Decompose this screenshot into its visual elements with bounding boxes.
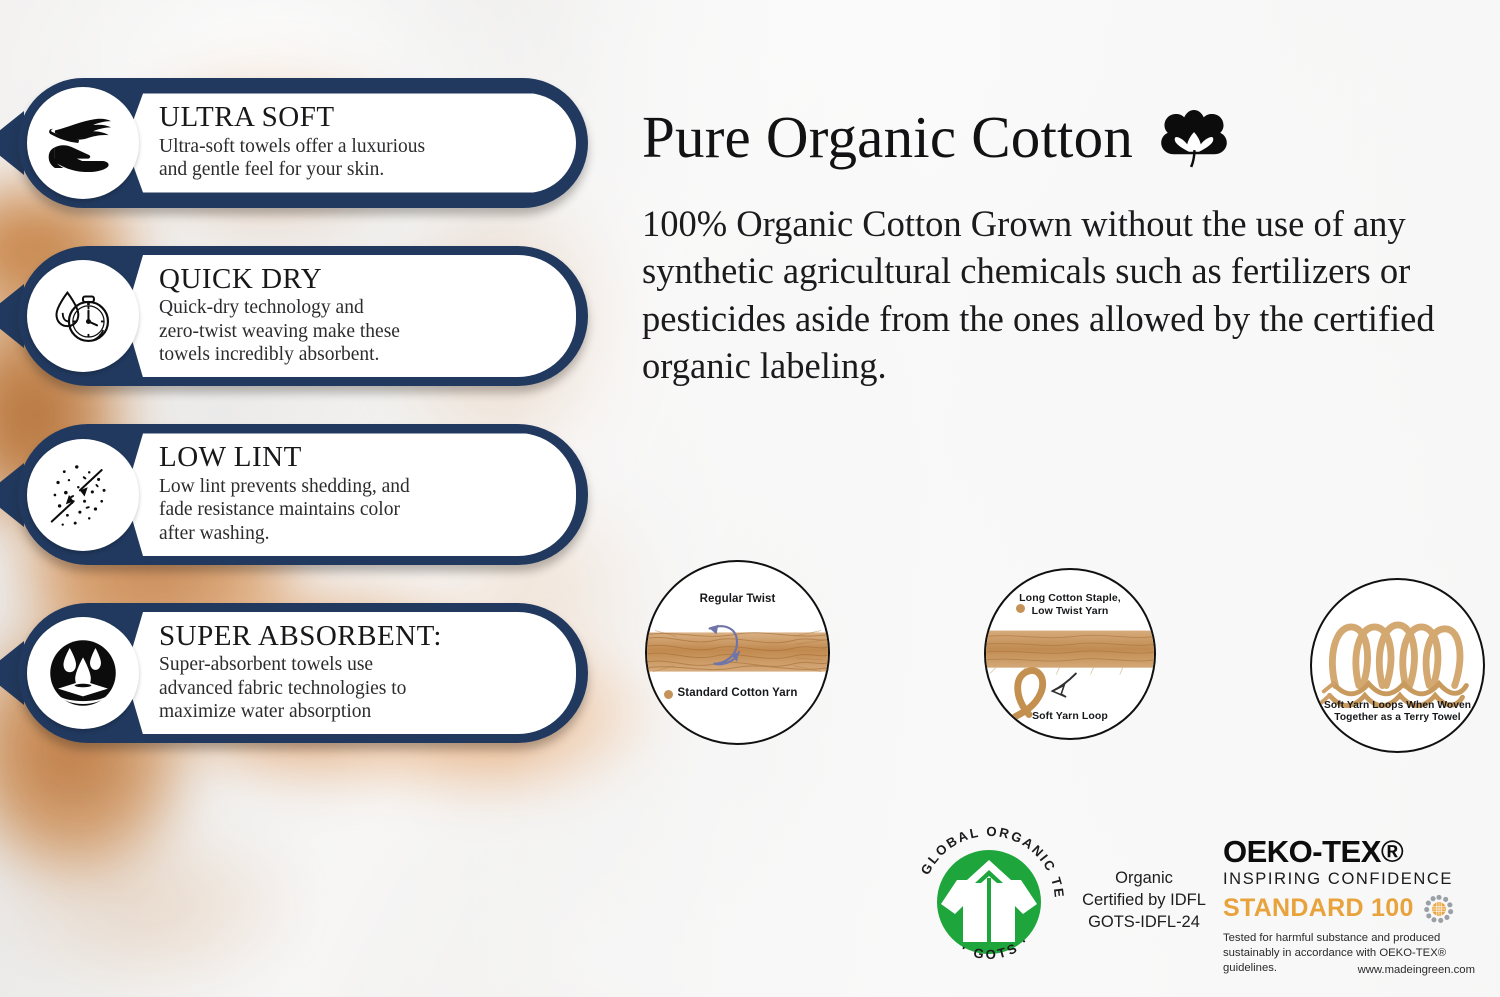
feature-list: ULTRA SOFT Ultra-soft towels offer a lux… (18, 78, 588, 781)
yarn-top-label: Long Cotton Staple, Low Twist Yarn (986, 592, 1154, 618)
yarn-bottom-label: Soft Yarn Loop (986, 710, 1154, 723)
feature-item-ultra-soft[interactable]: ULTRA SOFT Ultra-soft towels offer a lux… (18, 78, 588, 208)
oeko-tex-title: OEKO-TEX® (1223, 836, 1475, 867)
oeko-tex-flower-icon (1424, 894, 1454, 924)
oeko-tex-standard: STANDARD 100 (1223, 896, 1414, 921)
yarn-bottom-label: Soft Yarn Loops When Woven Together as a… (1312, 700, 1483, 725)
feature-description: Quick-dry technology and zero-twist weav… (159, 296, 550, 366)
oeko-tex-subtitle: INSPIRING CONFIDENCE (1223, 871, 1475, 888)
certifications-row: GLOBAL ORGANIC TEXTILE STANDARD · GOTS ·… (905, 818, 1485, 986)
yarn-diagram-row: Regular Twist Standard Cotton Yarn (645, 560, 1485, 753)
feature-item-low-lint[interactable]: LOW LINT Low lint prevents shedding, and… (18, 424, 588, 564)
right-column: Pure Organic Cotton 100% Organic Cotton … (642, 96, 1480, 390)
water-absorption-icon (27, 617, 139, 729)
yarn-diagram-terry-loops: Soft Yarn Loops When Woven Together as a… (1310, 578, 1485, 753)
yarn-top-label: Regular Twist (647, 592, 828, 606)
lint-particles-icon (27, 439, 139, 551)
gots-certification-text: Organic Certified by IDFL GOTS-IDFL-24 (1073, 868, 1215, 934)
oeko-tex-block: OEKO-TEX® INSPIRING CONFIDENCE STANDARD … (1223, 836, 1475, 978)
feature-item-quick-dry[interactable]: QUICK DRY Quick-dry technology and zero-… (18, 246, 588, 386)
yarn-diagram-low-twist: Long Cotton Staple, Low Twist Yarn Soft … (984, 568, 1156, 740)
oeko-tex-fine-print: Tested for harmful substance and produce… (1223, 931, 1475, 978)
page-title: Pure Organic Cotton (642, 103, 1133, 172)
yarn-bottom-label: Standard Cotton Yarn (647, 686, 828, 700)
infographic-canvas: ULTRA SOFT Ultra-soft towels offer a lux… (0, 0, 1500, 997)
feature-description: Super-absorbent towels use advanced fabr… (159, 653, 550, 723)
hand-feather-icon (27, 87, 139, 199)
yarn-diagram-regular-twist: Regular Twist Standard Cotton Yarn (645, 560, 830, 745)
feature-description: Ultra-soft towels offer a luxurious and … (159, 135, 550, 182)
feature-title: LOW LINT (159, 442, 550, 473)
body-paragraph: 100% Organic Cotton Grown without the us… (642, 200, 1480, 390)
headline-row: Pure Organic Cotton (642, 96, 1480, 178)
feature-description: Low lint prevents shedding, and fade res… (159, 475, 550, 545)
feature-title: ULTRA SOFT (159, 102, 550, 133)
cotton-boll-icon (1153, 96, 1235, 178)
gots-logo-icon: GLOBAL ORGANIC TEXTILE STANDARD · GOTS · (905, 818, 1073, 986)
oeko-website: www.madeingreen.com (1358, 964, 1475, 976)
feature-title: SUPER ABSORBENT: (159, 621, 550, 652)
feature-item-super-absorbent[interactable]: SUPER ABSORBENT: Super-absorbent towels … (18, 603, 588, 743)
droplet-stopwatch-icon (27, 260, 139, 372)
feature-title: QUICK DRY (159, 264, 550, 295)
